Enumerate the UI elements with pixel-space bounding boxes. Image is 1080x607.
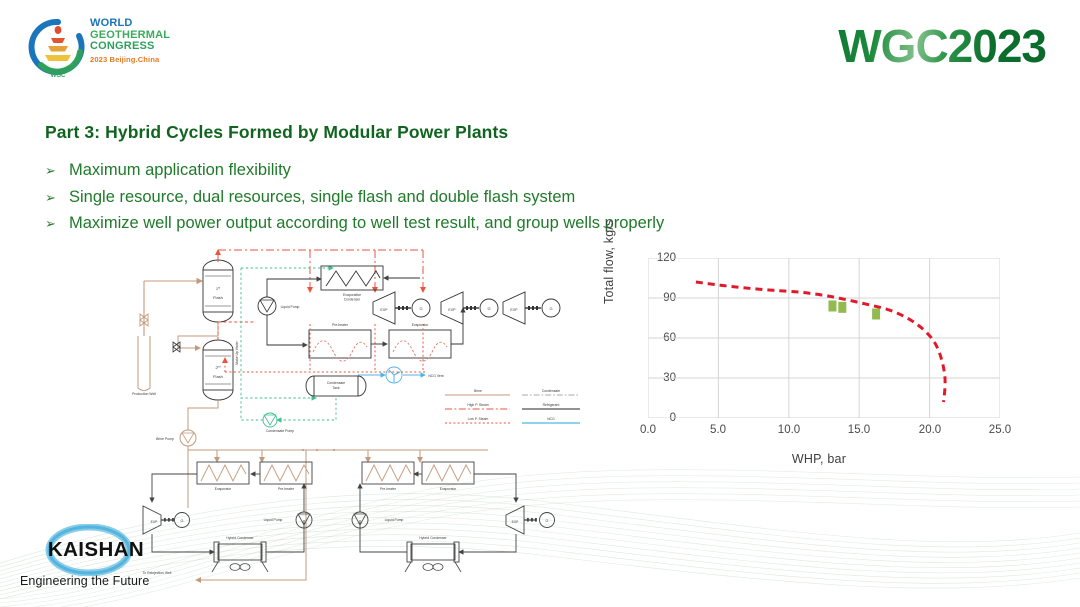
svg-text:NCG: NCG	[547, 417, 555, 421]
chart-x-tick: 0.0	[628, 424, 668, 436]
chart-data-point	[872, 309, 880, 320]
chart-series-markers	[828, 301, 880, 320]
list-item-label: Maximize well power output according to …	[69, 213, 664, 233]
wgc-logo-subtitle: 2023 Beijing.China	[90, 55, 176, 64]
svg-text:EXP: EXP	[448, 308, 456, 312]
chart-y-axis-label: Total flow, kg/s	[602, 220, 616, 305]
chart-series-line	[696, 282, 945, 402]
wgc-logo-wordmark: WORLD GEOTHERMAL CONGRESS 2023 Beijing.C…	[90, 18, 176, 64]
svg-text:G: G	[549, 306, 552, 311]
svg-text:Refrigerant: Refrigerant	[543, 403, 560, 407]
chart-x-tick: 15.0	[839, 424, 879, 436]
svg-text:Make Up Water: Make Up Water	[235, 340, 239, 364]
second-flash-vessel: 2nd Flash	[173, 322, 256, 400]
svg-text:Evaporator: Evaporator	[412, 323, 429, 327]
svg-text:High P. Steam: High P. Steam	[467, 403, 489, 407]
svg-text:G: G	[546, 519, 549, 523]
orc-module-right: Pre-heater Evaporator EXP G Liquid Pump …	[352, 462, 555, 572]
production-well: Production Well	[132, 281, 202, 396]
svg-text:Production Well: Production Well	[132, 392, 156, 396]
svg-text:Condensate: Condensate	[327, 381, 345, 385]
diagram-legend: Brine High P. Steam Low P. Steam Condens…	[445, 389, 580, 423]
svg-text:2nd: 2nd	[215, 365, 221, 370]
chart-x-tick: 25.0	[980, 424, 1020, 436]
chart-plot-area	[648, 258, 1000, 418]
svg-text:Pre-heater: Pre-heater	[332, 323, 349, 327]
brand-title: WGC2023	[838, 19, 1046, 73]
condensate-tank: Condensate Tank	[306, 376, 366, 396]
svg-text:Condensate: Condensate	[542, 389, 560, 393]
svg-text:Liquid Pump: Liquid Pump	[281, 305, 300, 309]
wgc-swirl-icon: WGC	[27, 16, 89, 82]
svg-text:Hybrid Condenser: Hybrid Condenser	[226, 536, 254, 540]
svg-text:1st: 1st	[216, 286, 221, 291]
chart-x-axis-label: WHP, bar	[604, 452, 1034, 466]
svg-text:Condensate Pump: Condensate Pump	[266, 429, 294, 433]
kaishan-logo: KAISHAN Engineering the Future	[18, 524, 168, 596]
brine-pump: Brine Pump	[156, 400, 218, 508]
process-flow-diagram: Production Well 1st Flash 2nd Flash Brin	[110, 248, 580, 588]
svg-text:Evaporative: Evaporative	[343, 293, 361, 297]
svg-text:Pre-heater: Pre-heater	[278, 487, 295, 491]
expander-generator-3: EXP G	[373, 292, 430, 324]
bullet-arrow-icon: ➢	[45, 191, 69, 204]
svg-text:NCG Vent: NCG Vent	[428, 374, 443, 378]
svg-text:Flash: Flash	[213, 295, 223, 300]
svg-text:G: G	[487, 306, 490, 311]
wgc-congress-logo: WGC WORLD GEOTHERMAL CONGRESS 2023 Beiji…	[27, 14, 172, 84]
evaporative-condenser: Evaporative Condenser	[321, 266, 420, 302]
ncg-vent: NCG Vent	[358, 367, 444, 383]
svg-text:Condenser: Condenser	[344, 298, 361, 302]
svg-text:Tank: Tank	[332, 386, 339, 390]
chart-x-tick: 20.0	[910, 424, 950, 436]
svg-text:Low P. Steam: Low P. Steam	[468, 417, 489, 421]
list-item: ➢ Maximize well power output according t…	[45, 213, 945, 233]
orc-module-left: Evaporator Pre-heater EXP G Liquid Pump …	[143, 462, 312, 572]
svg-text:G: G	[419, 306, 422, 311]
chart-data-point	[828, 301, 836, 312]
kaishan-tagline: Engineering the Future	[20, 574, 168, 588]
svg-text:EXP: EXP	[510, 308, 518, 312]
svg-text:Pre-heater: Pre-heater	[380, 487, 397, 491]
liquid-pump-upper: Liquid Pump	[258, 279, 321, 345]
chart-x-tick: 10.0	[769, 424, 809, 436]
svg-text:Brine Pump: Brine Pump	[156, 437, 174, 441]
expander-generator-1: EXP G	[441, 292, 498, 324]
svg-text:Liquid Pump: Liquid Pump	[264, 518, 283, 522]
svg-text:WGC: WGC	[51, 73, 66, 79]
wgc-logo-line-1: WORLD	[90, 18, 176, 30]
svg-text:Evaporator: Evaporator	[215, 487, 232, 491]
svg-text:EXP: EXP	[380, 308, 388, 312]
bullet-arrow-icon: ➢	[45, 217, 69, 230]
first-flash-vessel: 1st Flash	[203, 250, 233, 322]
wgc-logo-line-3: CONGRESS	[90, 41, 176, 53]
high-pressure-steam-header	[218, 250, 423, 292]
kaishan-wordmark: KAISHAN	[36, 538, 156, 562]
list-item: ➢ Maximum application flexibility	[45, 160, 945, 180]
page-title: Part 3: Hybrid Cycles Formed by Modular …	[45, 122, 508, 143]
svg-text:Hybrid Condenser: Hybrid Condenser	[419, 536, 447, 540]
bullet-list: ➢ Maximum application flexibility ➢ Sing…	[45, 160, 945, 240]
chart-data-point	[838, 302, 846, 313]
chart-x-tick: 5.0	[698, 424, 738, 436]
svg-text:EXP: EXP	[512, 520, 520, 524]
svg-text:G: G	[181, 519, 184, 523]
list-item-label: Maximum application flexibility	[69, 160, 291, 180]
expander-generator-2: EXP G	[503, 292, 560, 324]
svg-text:Liquid Pump: Liquid Pump	[385, 518, 404, 522]
condensate-pump: Condensate Pump	[241, 398, 336, 433]
make-up-water-line: Make Up Water	[235, 268, 333, 398]
well-deliverability-chart: Total flow, kg/s WHP, bar 120 90 60 30 0…	[604, 252, 1034, 474]
svg-text:Flash: Flash	[213, 374, 223, 379]
list-item-label: Single resource, dual resources, single …	[69, 187, 575, 207]
svg-text:Brine: Brine	[474, 389, 482, 393]
list-item: ➢ Single resource, dual resources, singl…	[45, 187, 945, 207]
bullet-arrow-icon: ➢	[45, 164, 69, 177]
svg-text:Evaporator: Evaporator	[440, 487, 457, 491]
